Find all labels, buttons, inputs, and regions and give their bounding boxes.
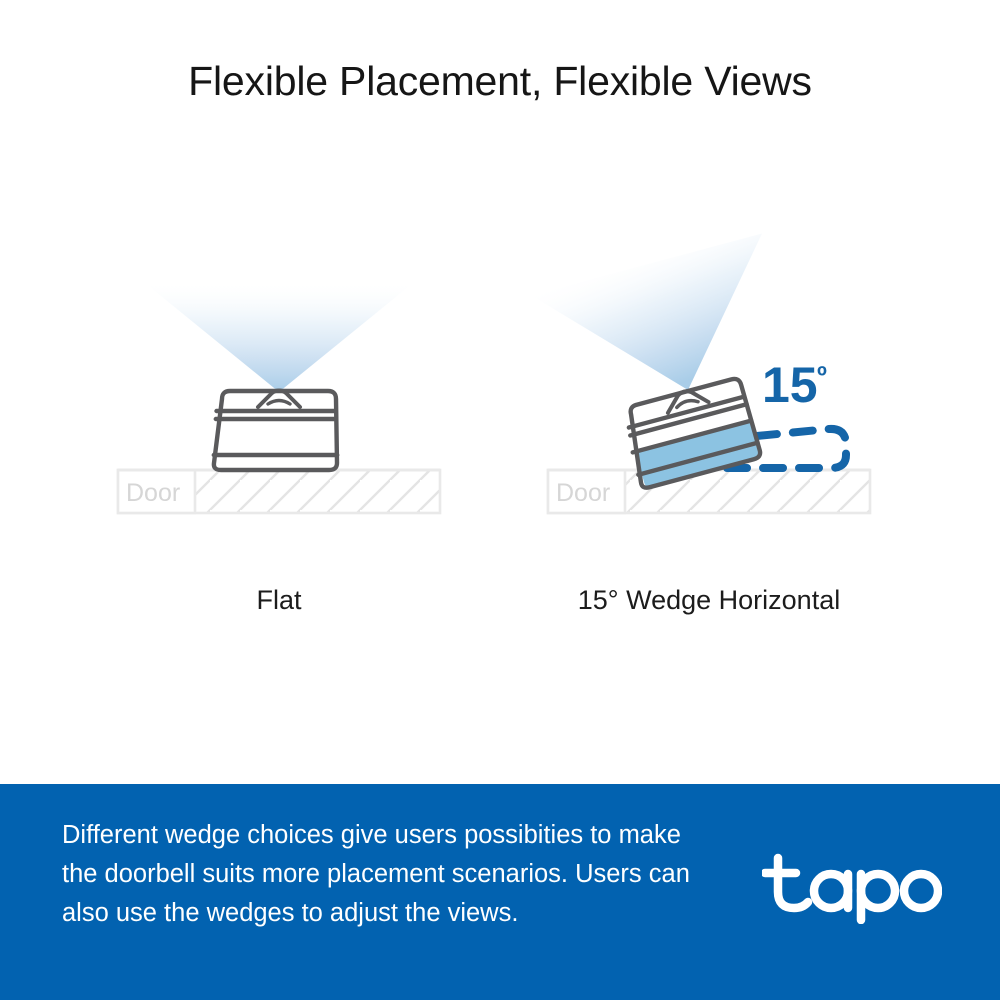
caption-wedge: 15° Wedge Horizontal [548,585,870,616]
angle-value-label: 15 [762,357,818,413]
caption-flat: Flat [118,585,440,616]
ground-label-door-right: Door [556,479,610,507]
bottom-info-panel: Different wedge choices give users possi… [0,784,1000,1000]
panel-description-text: Different wedge choices give users possi… [62,816,722,933]
angle-unit-label: º [817,361,827,391]
camera-view-cone-icon [531,234,796,423]
figure-wedge-15-horizontal: Door [531,234,870,513]
doorbell-device-icon [214,391,337,471]
angle-annotation: 15 º [762,357,827,413]
diagram-area: Door [0,0,1000,784]
camera-view-cone-icon [145,283,413,392]
placement-diagram-svg: Door [0,0,1000,784]
ground-label-door-left: Door [126,479,180,507]
tapo-logo-icon [762,852,942,924]
figure-flat: Door [118,283,440,513]
infographic-page: Flexible Placement, Flexible Views [0,0,1000,1000]
